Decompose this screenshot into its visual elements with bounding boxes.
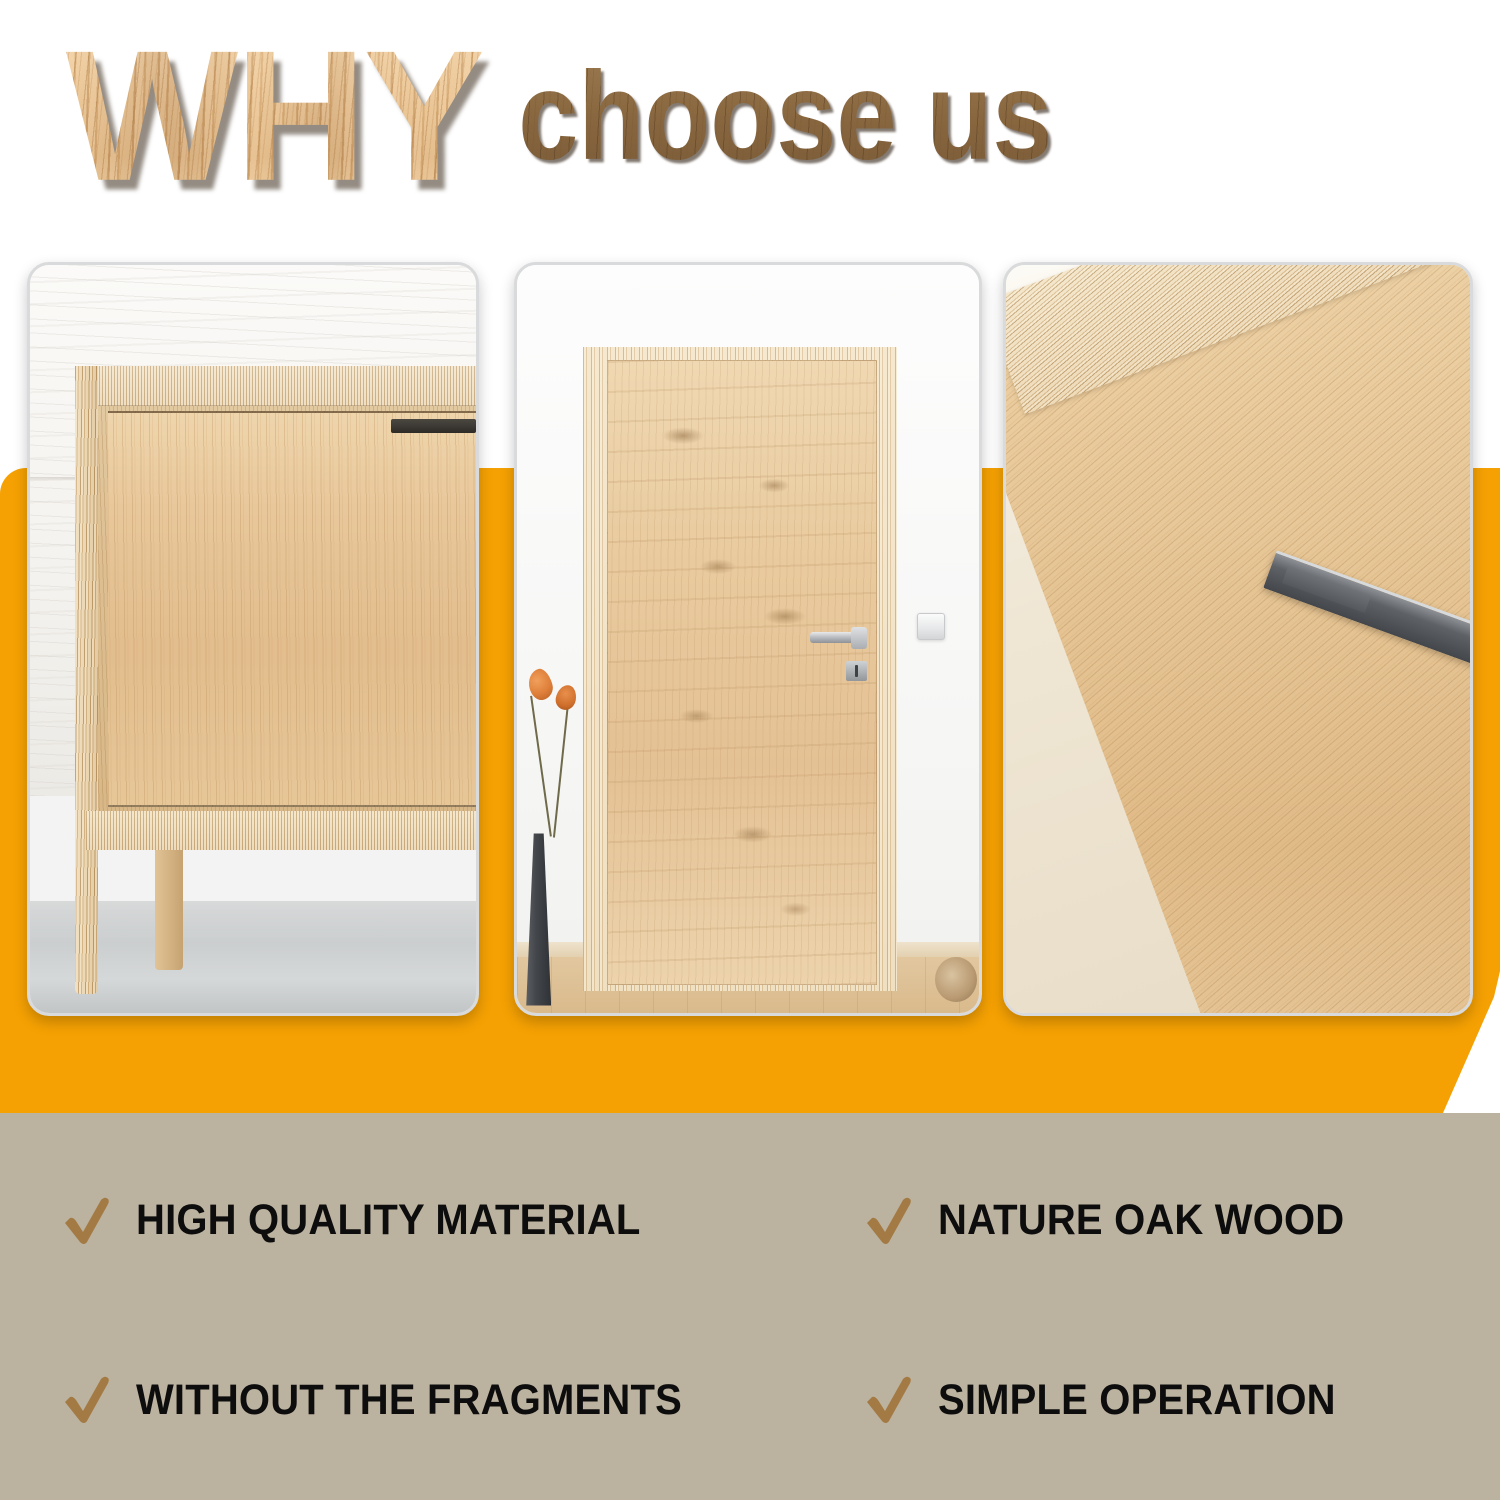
oak-door-photo (514, 262, 982, 1016)
wood-log-decoration (935, 957, 977, 1002)
oak-drawer-edge-photo-image (1006, 265, 1470, 1013)
headline-word-choose-us: choose us (518, 53, 1052, 178)
cabinet-bottom-rail (86, 811, 476, 850)
feature-label: SIMPLE OPERATION (938, 1376, 1336, 1425)
door-handle-rose (851, 627, 867, 649)
oak-drawer-edge-photo (1003, 262, 1473, 1016)
door-lock-escutcheon (846, 661, 867, 680)
oak-door-leaf (607, 360, 877, 985)
cabinet-left-post (75, 366, 98, 994)
feature-item-high-quality-material: HIGH QUALITY MATERIAL (0, 1192, 780, 1250)
feature-label: WITHOUT THE FRAGMENTS (136, 1376, 682, 1425)
oak-door-photo-image (517, 265, 979, 1013)
feature-item-simple-operation: SIMPLE OPERATION (780, 1371, 1500, 1429)
oak-sideboard-photo (27, 262, 479, 1016)
feature-list: HIGH QUALITY MATERIAL NATURE OAK WOOD WI… (0, 1113, 1500, 1500)
feature-item-nature-oak-wood: NATURE OAK WOOD (780, 1192, 1500, 1250)
cabinet-leg (155, 850, 184, 970)
cabinet-handle (391, 419, 476, 433)
light-switch (917, 613, 946, 640)
check-icon (862, 1371, 920, 1429)
feature-label: HIGH QUALITY MATERIAL (136, 1196, 641, 1245)
headline-word-why: WHY (66, 23, 482, 209)
check-icon (60, 1192, 118, 1250)
headline: WHY choose us (0, 0, 1500, 232)
feature-item-without-the-fragments: WITHOUT THE FRAGMENTS (0, 1371, 780, 1429)
oak-sideboard-photo-image (30, 265, 476, 1013)
cabinet-top-edge (75, 366, 476, 406)
check-icon (862, 1192, 920, 1250)
feature-label: NATURE OAK WOOD (938, 1196, 1344, 1245)
check-icon (60, 1371, 118, 1429)
cabinet-door-panel (108, 411, 476, 807)
promo-infographic: WHY choose us (0, 0, 1500, 1500)
